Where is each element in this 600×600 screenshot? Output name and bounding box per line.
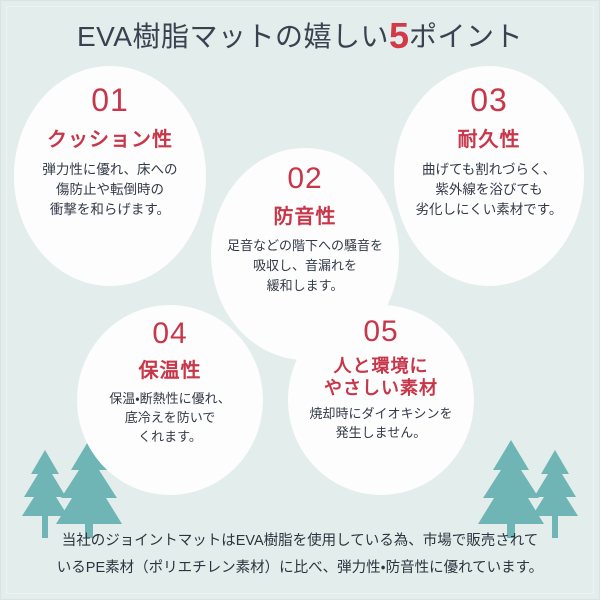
point-number-05: 05 [363, 317, 398, 347]
point-body-01: 弾力性に優れ、床への 傷防止や転倒時の 衝撃を和らげます。 [42, 160, 177, 220]
point-circle-05: 05 人と環境に やさしい素材 焼却時にダイオキシンを 発生しません。 [288, 305, 474, 495]
point-body-line: 底冷えを防いで [125, 410, 216, 425]
infographic-poster: EVA樹脂マットの嬉しい5ポイント 01 クッション性 弾力性に優れ、床への 傷… [0, 0, 600, 600]
point-heading-02: 防音性 [274, 205, 337, 229]
point-body-05: 焼却時にダイオキシンを 発生しません。 [309, 404, 452, 442]
point-circle-04: 04 保温性 保温・断熱性に優れ、 底冷えを防いで くれます。 [77, 305, 263, 495]
point-body-line: 保温・断熱性に優れ、 [109, 391, 231, 406]
footer-line-1: 当社のジョイントマットはEVA樹脂を使用している為、市場で販売されて [28, 528, 572, 555]
point-body-02: 足音などの階下への騒音を 吸収し、音漏れを 緩和します。 [227, 236, 383, 296]
point-number-01: 01 [91, 84, 129, 116]
point-body-line: 発生しません。 [336, 425, 427, 440]
point-body-line: 弾力性に優れ、床への [42, 162, 177, 177]
footer-note: 当社のジョイントマットはEVA樹脂を使用している為、市場で販売されて いるPE素… [28, 528, 572, 582]
point-body-line: くれます。 [138, 429, 202, 444]
point-number-03: 03 [470, 84, 508, 116]
point-body-line: 紫外線を浴びても [435, 182, 542, 197]
point-body-line: 焼却時にダイオキシンを [309, 406, 452, 421]
point-heading-03: 耐久性 [458, 128, 521, 152]
title-text-before: EVA樹脂マットの嬉しい [77, 21, 389, 52]
point-body-03: 曲げても割れづらく、 紫外線を浴びても 劣化しにくい素材です。 [416, 160, 563, 220]
point-body-line: 傷防止や転倒時の [56, 182, 164, 197]
title-text-after: ポイント [409, 21, 523, 52]
point-heading-line: やさしい素材 [324, 378, 438, 398]
point-circle-03: 03 耐久性 曲げても割れづらく、 紫外線を浴びても 劣化しにくい素材です。 [394, 66, 584, 286]
point-body-line: 劣化しにくい素材です。 [416, 202, 563, 217]
title-accent-number: 5 [389, 15, 409, 56]
point-number-04: 04 [152, 319, 187, 349]
point-body-line: 衝撃を和らげます。 [50, 202, 170, 217]
point-body-line: 吸収し、音漏れを [253, 258, 357, 273]
point-body-line: 足音などの階下への騒音を [227, 238, 383, 253]
point-number-02: 02 [287, 164, 322, 194]
page-title: EVA樹脂マットの嬉しい5ポイント [0, 18, 600, 56]
point-heading-01: クッション性 [47, 128, 173, 152]
point-circle-01: 01 クッション性 弾力性に優れ、床への 傷防止や転倒時の 衝撃を和らげます。 [14, 66, 206, 286]
pine-trees-icon-right [470, 440, 588, 538]
point-body-line: 曲げても割れづらく、 [422, 162, 556, 177]
point-body-line: 緩和します。 [267, 278, 344, 293]
point-heading-05: 人と環境に やさしい素材 [324, 355, 438, 399]
footer-line-2: いるPE素材（ポリエチレン素材）に比べ、弾力性・防音性に優れています。 [28, 555, 572, 582]
point-heading-04: 保温性 [139, 359, 202, 383]
point-heading-line: 人と環境に [334, 356, 429, 376]
point-body-04: 保温・断熱性に優れ、 底冷えを防いで くれます。 [109, 389, 231, 446]
